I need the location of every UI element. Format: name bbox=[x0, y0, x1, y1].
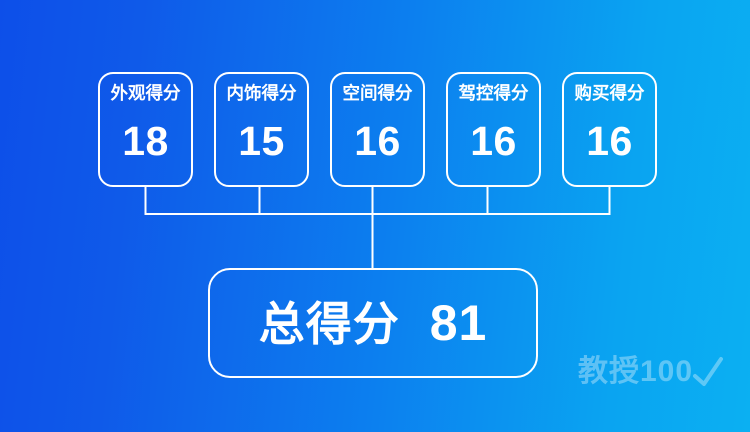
watermark-text: 教授100 bbox=[578, 355, 693, 388]
score-card-purchase[interactable]: 购买得分 16 bbox=[562, 72, 657, 187]
brand-watermark: 教授100 bbox=[578, 348, 726, 392]
score-card-exterior[interactable]: 外观得分 18 bbox=[98, 72, 193, 187]
score-card-value: 16 bbox=[586, 121, 633, 162]
score-card-label: 外观得分 bbox=[111, 85, 181, 103]
score-card-value: 18 bbox=[122, 121, 169, 162]
score-card-label: 内饰得分 bbox=[227, 85, 297, 103]
score-card-label: 空间得分 bbox=[343, 85, 413, 103]
checkmark-icon bbox=[695, 359, 721, 384]
total-score-inner: 总得分 81 bbox=[259, 298, 488, 348]
score-card-value: 16 bbox=[354, 121, 401, 162]
total-score-box[interactable]: 总得分 81 bbox=[208, 268, 538, 378]
score-card-label: 购买得分 bbox=[575, 85, 645, 103]
score-card-value: 16 bbox=[470, 121, 517, 162]
total-score-label: 总得分 bbox=[259, 301, 400, 347]
total-score-value: 81 bbox=[430, 298, 488, 348]
score-summary-infographic: 外观得分 18 内饰得分 15 空间得分 16 驾控得分 16 购买得分 16 … bbox=[0, 0, 750, 432]
score-cards-row: 外观得分 18 内饰得分 15 空间得分 16 驾控得分 16 购买得分 16 bbox=[98, 72, 657, 187]
score-card-value: 15 bbox=[238, 121, 285, 162]
score-card-space[interactable]: 空间得分 16 bbox=[330, 72, 425, 187]
score-card-interior[interactable]: 内饰得分 15 bbox=[214, 72, 309, 187]
score-card-label: 驾控得分 bbox=[459, 85, 529, 103]
score-card-driving[interactable]: 驾控得分 16 bbox=[446, 72, 541, 187]
